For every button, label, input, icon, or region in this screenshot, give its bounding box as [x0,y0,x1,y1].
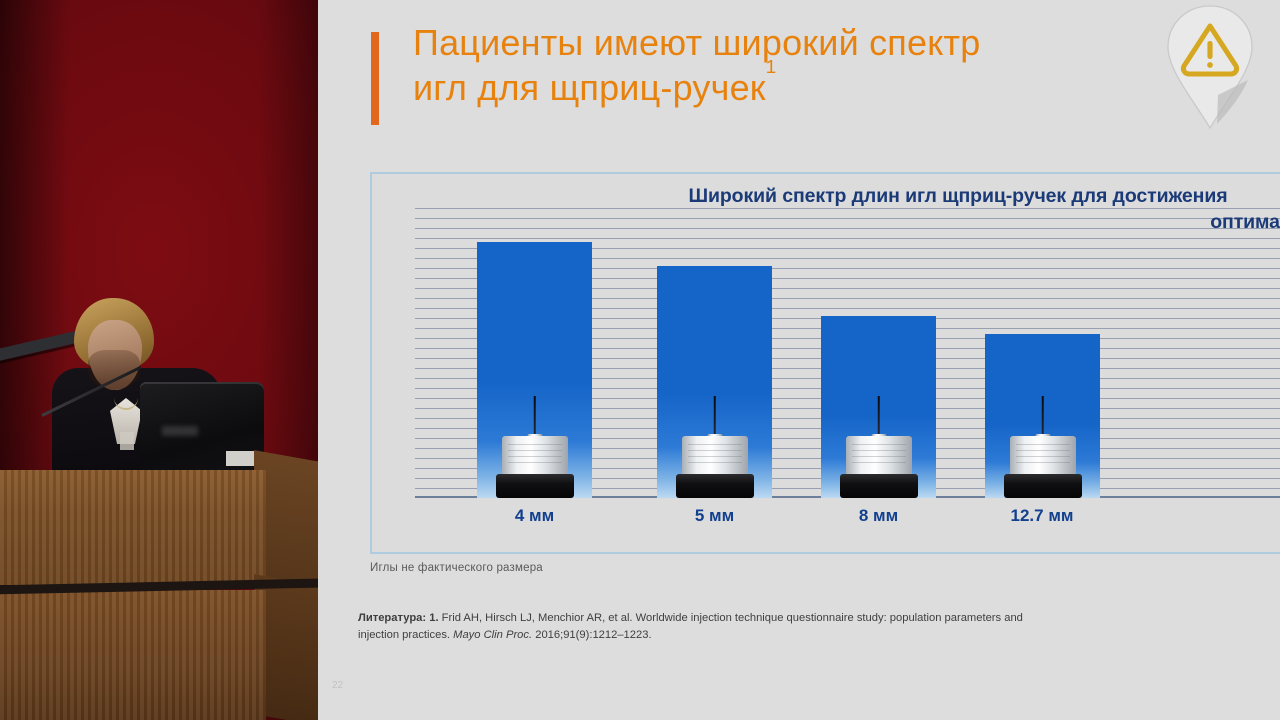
pen-base [496,474,574,498]
bar-label-5mm: 5 мм [657,506,772,526]
chart-container: Широкий спектр длин игл щприц-ручек для … [370,172,1280,554]
warning-triangle-icon [1162,0,1258,140]
pen-base [676,474,754,498]
reference-citation-detail: 2016;91(9):1212–1223. [535,629,651,641]
slide-number: 22 [332,680,343,691]
page-title-line2: игл для щприц-ручек [413,67,766,108]
presentation-slide: Пациенты имеют широкий спектр игл для щп… [318,0,1280,720]
chart-category-labels: 4 мм 5 мм 8 мм 12.7 мм [415,506,1280,540]
podium-top-face [0,470,266,585]
reference-journal: Mayo Clin Proc. [453,629,532,641]
presenter-video-panel [0,0,318,720]
laptop-sticker [226,451,256,466]
laptop-screen-glow [162,426,198,436]
page-title-footnote-marker: 1 [766,56,777,77]
reference-label: Литература: [358,612,426,624]
presenter-name-badge [120,432,134,450]
bar-4mm [477,242,592,498]
needle-cap [682,436,748,476]
chart-title-line1: Широкий спектр длин игл щприц-ручек для … [396,184,1280,210]
chart-bars [415,208,1280,498]
reference-citation: Литература: 1. Frid AH, Hirsch LJ, Mench… [358,610,1058,644]
page-title: Пациенты имеют широкий спектр игл для щп… [413,20,1113,111]
bar-5mm [657,266,772,498]
chart-inner: Широкий спектр длин игл щприц-ручек для … [372,174,1280,552]
title-accent-bar [371,32,379,125]
reference-number: 1. [429,612,438,624]
podium-bottom-face [0,590,266,720]
chart-caption: Иглы не фактического размера [370,562,543,574]
needle-cap [846,436,912,476]
needle-cap [1010,436,1076,476]
bar-8mm [821,316,936,498]
chart-title-line2: оптимального уровня комфорта [396,210,1280,236]
podium [0,470,318,720]
bar-label-8mm: 8 мм [821,506,936,526]
warning-pin-badge [1162,0,1258,140]
slide-video-composite: Пациенты имеют широкий спектр игл для щп… [0,0,1280,720]
bar-label-4mm: 4 мм [477,506,592,526]
bar-12-7mm [985,334,1100,498]
pen-base [1004,474,1082,498]
pen-base [840,474,918,498]
needle-cap [502,436,568,476]
page-title-line1: Пациенты имеют широкий спектр [413,22,980,63]
bar-label-12-7mm: 12.7 мм [977,506,1107,526]
chart-title: Широкий спектр длин игл щприц-ручек для … [396,184,1280,235]
